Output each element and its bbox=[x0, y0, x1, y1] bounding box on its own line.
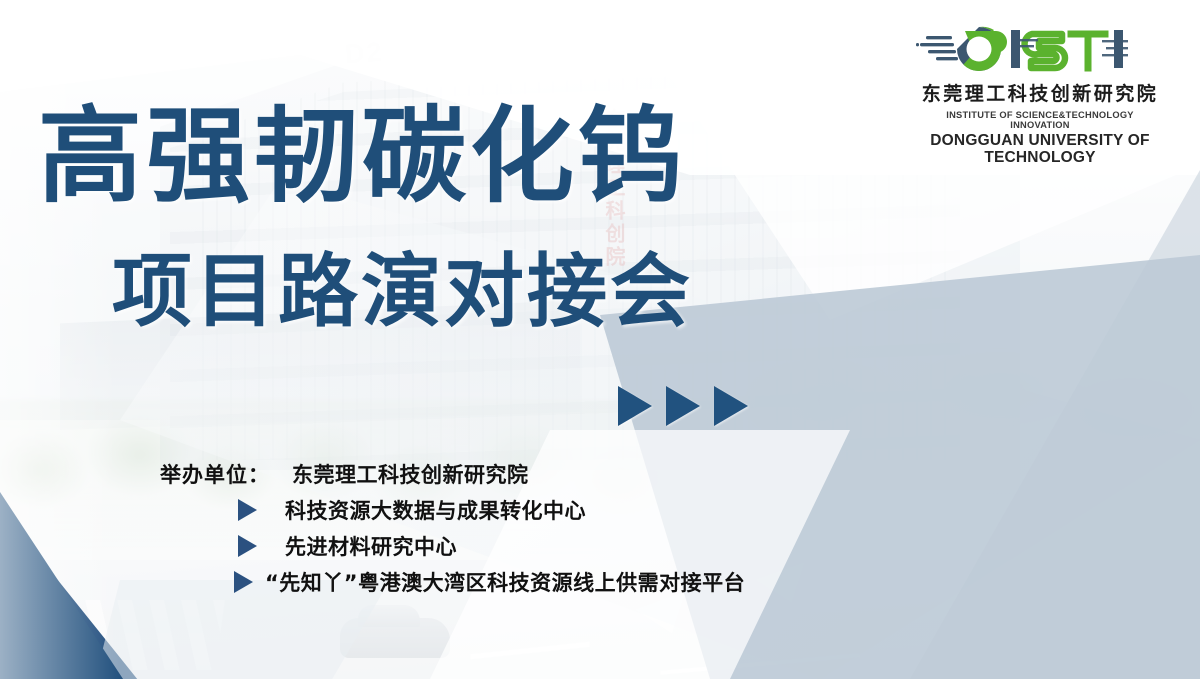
triangle-bullet-icon bbox=[234, 571, 253, 593]
organizer-label: 举办单位： bbox=[160, 459, 270, 489]
poster-canvas: D2 东莞理工科创院 bbox=[0, 0, 1200, 679]
organizer-item-label: “先知丫”粤港澳大湾区科技资源线上供需对接平台 bbox=[265, 567, 745, 597]
page-title-primary: 高强韧碳化钨 bbox=[38, 104, 686, 208]
play-triangle-icon bbox=[618, 386, 652, 426]
play-triangle-icon bbox=[666, 386, 700, 426]
organizer-primary-name: 东莞理工科技创新研究院 bbox=[292, 459, 529, 489]
page-title-secondary: 项目路演对接会 bbox=[112, 252, 693, 332]
decorative-arrow-group bbox=[618, 386, 748, 426]
organizer-item-label: 先进材料研究中心 bbox=[285, 531, 457, 561]
organizer-block: 举办单位： 东莞理工科技创新研究院 科技资源大数据与成果转化中心 先进材料研究中… bbox=[160, 455, 840, 600]
organizer-item: 先进材料研究中心 bbox=[238, 528, 840, 564]
triangle-bullet-icon bbox=[238, 535, 257, 557]
organizer-item-label: 科技资源大数据与成果转化中心 bbox=[285, 495, 586, 525]
organizer-primary-row: 举办单位： 东莞理工科技创新研究院 bbox=[160, 455, 840, 492]
triangle-bullet-icon bbox=[238, 499, 257, 521]
play-triangle-icon bbox=[714, 386, 748, 426]
organizer-item: 科技资源大数据与成果转化中心 bbox=[238, 492, 840, 528]
organizer-item: “先知丫”粤港澳大湾区科技资源线上供需对接平台 bbox=[234, 564, 840, 600]
